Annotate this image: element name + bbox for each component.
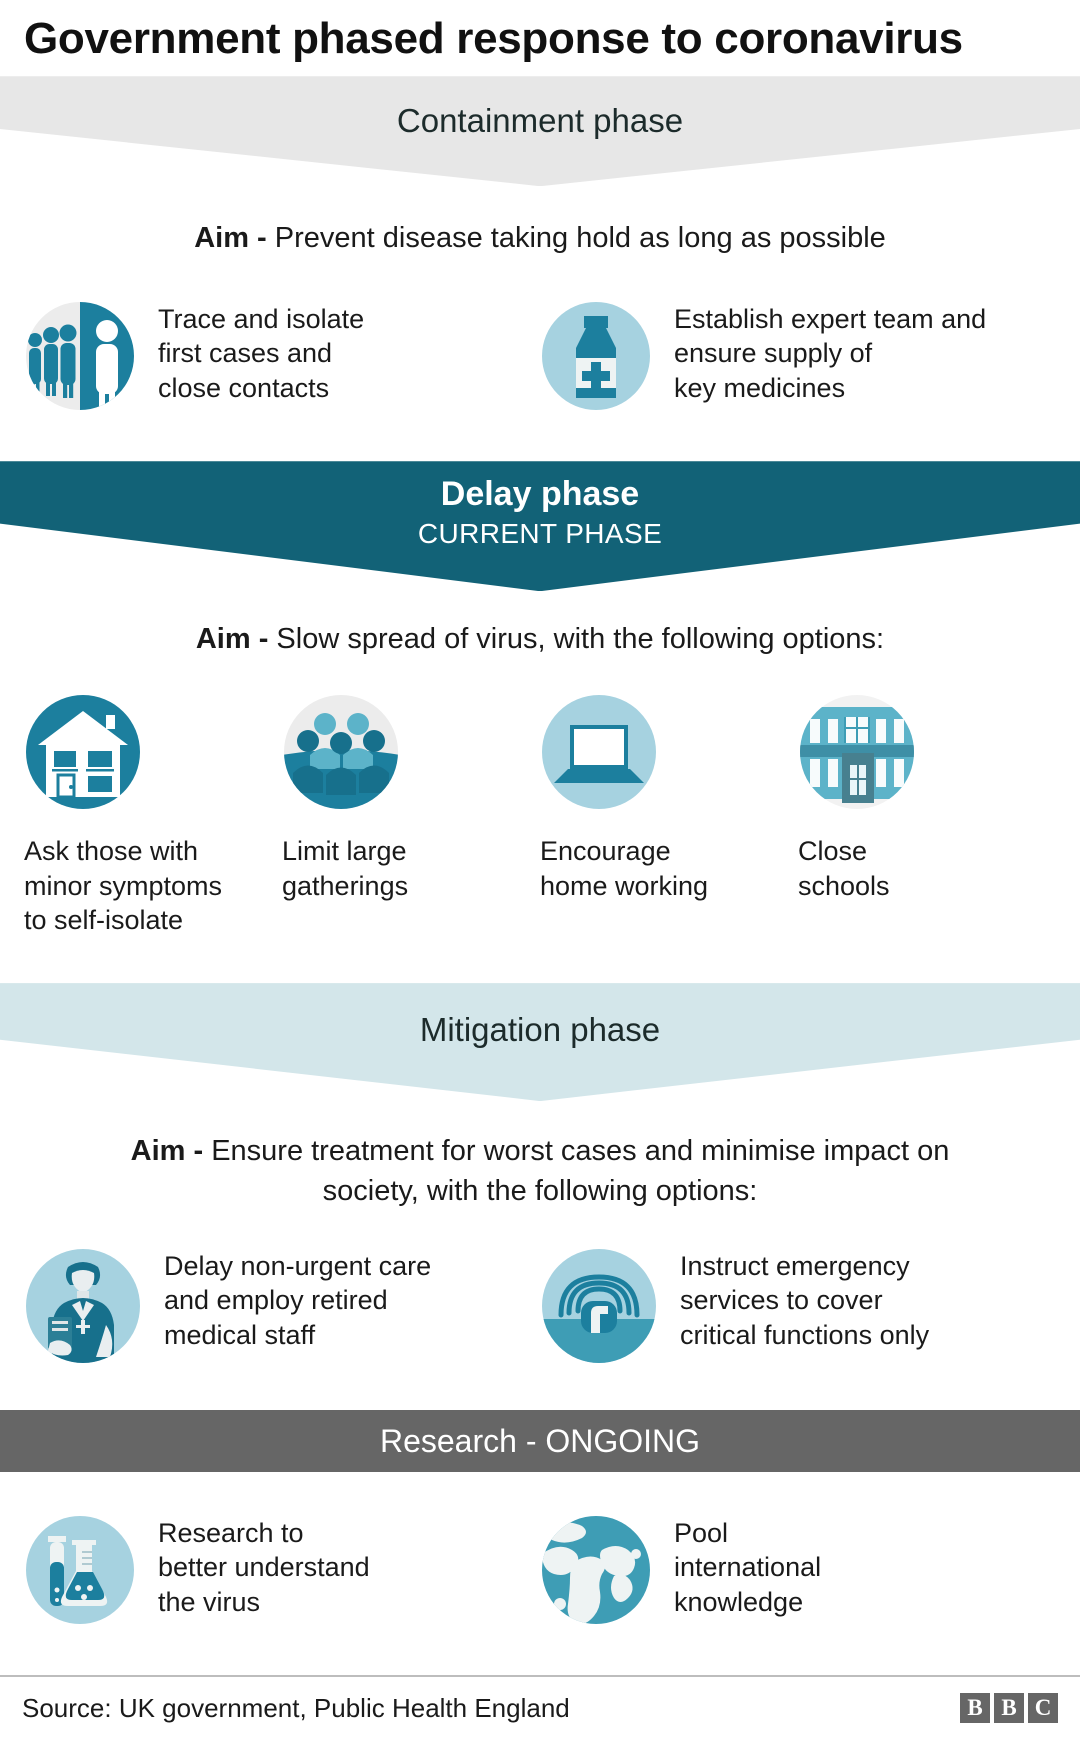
delay-aim-text: Slow spread of virus, with the following… [276,623,884,655]
research-items-row: Research to better understand the virus [0,1514,1080,1631]
delay-items-row: Ask those with minor symptoms to self-is… [0,693,1080,937]
test-tube-flask-icon [24,1514,136,1631]
delay-aim: Aim - Slow spread of virus, with the fol… [0,619,1080,659]
list-item-label: Ask those with minor symptoms to self-is… [24,834,222,937]
house-icon [24,693,142,816]
nurse-icon [24,1247,142,1370]
research-banner-title: Research - ONGOING [380,1423,700,1460]
containment-phase-title: Containment phase [0,76,1080,140]
school-building-icon [798,693,916,816]
delay-aim-label: Aim - [196,623,269,655]
list-item: Pool international knowledge [540,1514,1056,1631]
source-text: Source: UK government, Public Health Eng… [22,1693,570,1724]
list-item: Establish expert team and ensure supply … [540,300,1056,417]
banner-mitigation-phase: Mitigation phase [0,983,1080,1101]
list-item: Trace and isolate first cases and close … [24,300,540,417]
list-item-label: Encourage home working [540,834,708,903]
list-item-label: Limit large gatherings [282,834,408,903]
list-item: Close schools [798,693,1056,937]
people-isolate-icon [24,300,136,417]
list-item-label: Research to better understand the virus [158,1514,370,1619]
medicine-bottle-icon [540,300,652,417]
delay-phase-title: Delay phase [0,461,1080,514]
globe-icon [540,1514,652,1631]
list-item: Encourage home working [540,693,798,937]
banner-research: Research - ONGOING [0,1410,1080,1472]
list-item: Ask those with minor symptoms to self-is… [24,693,282,937]
bbc-logo-letter-2: B [994,1693,1024,1723]
list-item-label: Pool international knowledge [674,1514,821,1619]
mitigation-phase-title: Mitigation phase [0,983,1080,1049]
ambulance-siren-icon [540,1247,658,1370]
page-title: Government phased response to coronaviru… [0,0,1080,76]
mitigation-aim: Aim - Ensure treatment for worst cases a… [0,1131,1080,1211]
bbc-logo: B B C [960,1693,1058,1723]
containment-aim: Aim - Prevent disease taking hold as lon… [0,218,1080,258]
list-item-label: Instruct emergency services to cover cri… [680,1247,929,1352]
footer: Source: UK government, Public Health Eng… [0,1677,1080,1739]
bbc-logo-letter-3: C [1028,1693,1058,1723]
containment-items-row: Trace and isolate first cases and close … [0,300,1080,417]
list-item-label: Establish expert team and ensure supply … [674,300,986,405]
mitigation-items-row: Delay non-urgent care and employ retired… [0,1247,1080,1370]
infographic-page: Government phased response to coronaviru… [0,0,1080,1716]
list-item: Instruct emergency services to cover cri… [540,1247,1056,1370]
banner-delay-phase: Delay phase CURRENT PHASE [0,461,1080,591]
list-item: Limit large gatherings [282,693,540,937]
laptop-icon [540,693,658,816]
list-item: Research to better understand the virus [24,1514,540,1631]
mitigation-aim-label: Aim - [131,1135,204,1167]
list-item-label: Trace and isolate first cases and close … [158,300,364,405]
list-item-label: Close schools [798,834,890,903]
delay-phase-subtitle: CURRENT PHASE [0,514,1080,550]
crowd-icon [282,693,400,816]
banner-containment-phase: Containment phase [0,76,1080,186]
list-item-label: Delay non-urgent care and employ retired… [164,1247,431,1352]
list-item: Delay non-urgent care and employ retired… [24,1247,540,1370]
mitigation-aim-text: Ensure treatment for worst cases and min… [211,1135,949,1207]
bbc-logo-letter-1: B [960,1693,990,1723]
containment-aim-label: Aim - [194,222,267,254]
containment-aim-text: Prevent disease taking hold as long as p… [275,222,886,254]
